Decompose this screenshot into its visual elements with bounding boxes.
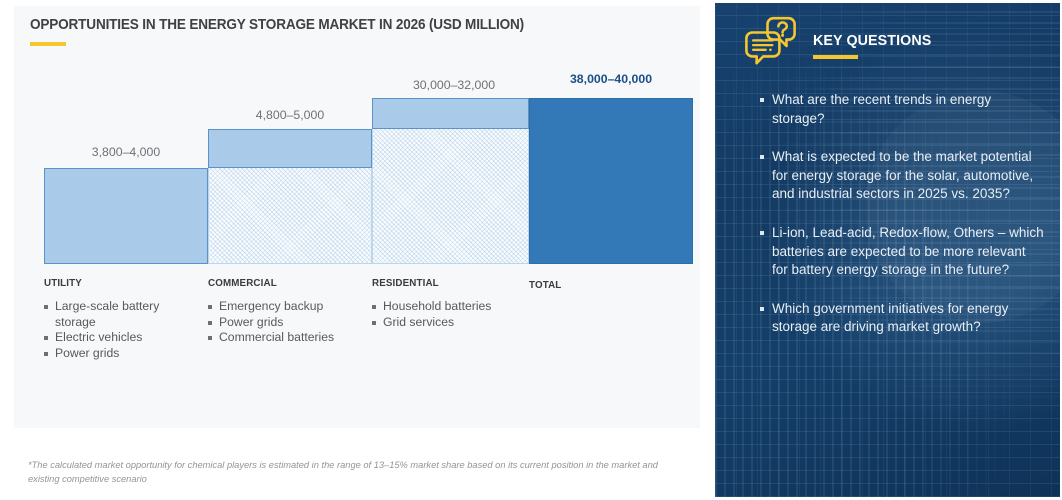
category-block-commercial: COMMERCIAL Emergency backup Power grids … <box>208 278 358 346</box>
category-list: Emergency backup Power grids Commercial … <box>208 299 358 346</box>
key-questions-title-wrap: KEY QUESTIONS <box>813 25 939 58</box>
list-item: Electric vehicles <box>44 330 194 346</box>
slide-root: OPPORTUNITIES IN THE ENERGY STORAGE MARK… <box>0 0 1062 500</box>
list-item: Commercial batteries <box>208 330 358 346</box>
bar-commercial <box>208 129 372 168</box>
key-questions-list: What are the recent trends in energy sto… <box>760 91 1045 357</box>
bar-value-label-total: 38,000–40,000 <box>529 72 693 86</box>
key-questions-panel: KEY QUESTIONS What are the recent trends… <box>715 3 1060 497</box>
key-questions-title: KEY QUESTIONS <box>813 32 931 49</box>
category-title: TOTAL <box>529 280 672 291</box>
list-item: Grid services <box>372 315 522 331</box>
bar-value-label-residential: 30,000–32,000 <box>372 78 536 92</box>
bar-total <box>529 98 693 264</box>
speech-bubbles-question-icon <box>743 15 801 69</box>
category-block-total: TOTAL <box>529 280 679 291</box>
bar-residential <box>372 98 529 129</box>
list-item: Emergency backup <box>208 299 358 315</box>
list-item: Household batteries <box>372 299 522 315</box>
list-item: Which government initiatives for energy … <box>760 300 1045 337</box>
category-list: Household batteries Grid services <box>372 299 522 330</box>
list-item: What is expected to be the market potent… <box>760 148 1045 204</box>
chart-panel: OPPORTUNITIES IN THE ENERGY STORAGE MARK… <box>14 6 700 428</box>
category-title: RESIDENTIAL <box>372 278 515 289</box>
category-title: COMMERCIAL <box>208 278 351 289</box>
key-questions-accent-rule <box>813 55 858 58</box>
category-block-utility: UTILITY Large-scale battery storage Elec… <box>44 278 194 361</box>
chart-section: OPPORTUNITIES IN THE ENERGY STORAGE MARK… <box>0 0 710 500</box>
page-title: OPPORTUNITIES IN THE ENERGY STORAGE MARK… <box>30 17 524 33</box>
category-block-residential: RESIDENTIAL Household batteries Grid ser… <box>372 278 522 330</box>
list-item: What are the recent trends in energy sto… <box>760 91 1045 128</box>
category-list: Large-scale battery storage Electric veh… <box>44 299 194 361</box>
footnote: *The calculated market opportunity for c… <box>28 459 668 486</box>
bar-utility <box>44 168 208 264</box>
list-item: Li-ion, Lead-acid, Redox-flow, Others – … <box>760 224 1045 280</box>
list-item: Large-scale battery storage <box>44 299 194 330</box>
title-accent-rule <box>30 42 66 46</box>
waterfall-connector-residential <box>372 129 529 264</box>
waterfall-connector-commercial <box>208 168 372 264</box>
waterfall-chart: 3,800–4,000 4,800–5,000 30,000–32,000 38… <box>44 84 684 264</box>
bar-value-label-commercial: 4,800–5,000 <box>208 108 372 122</box>
category-title: UTILITY <box>44 278 187 289</box>
bar-value-label-utility: 3,800–4,000 <box>44 145 208 159</box>
key-questions-header: KEY QUESTIONS <box>743 15 939 69</box>
list-item: Power grids <box>44 346 194 362</box>
list-item: Power grids <box>208 315 358 331</box>
